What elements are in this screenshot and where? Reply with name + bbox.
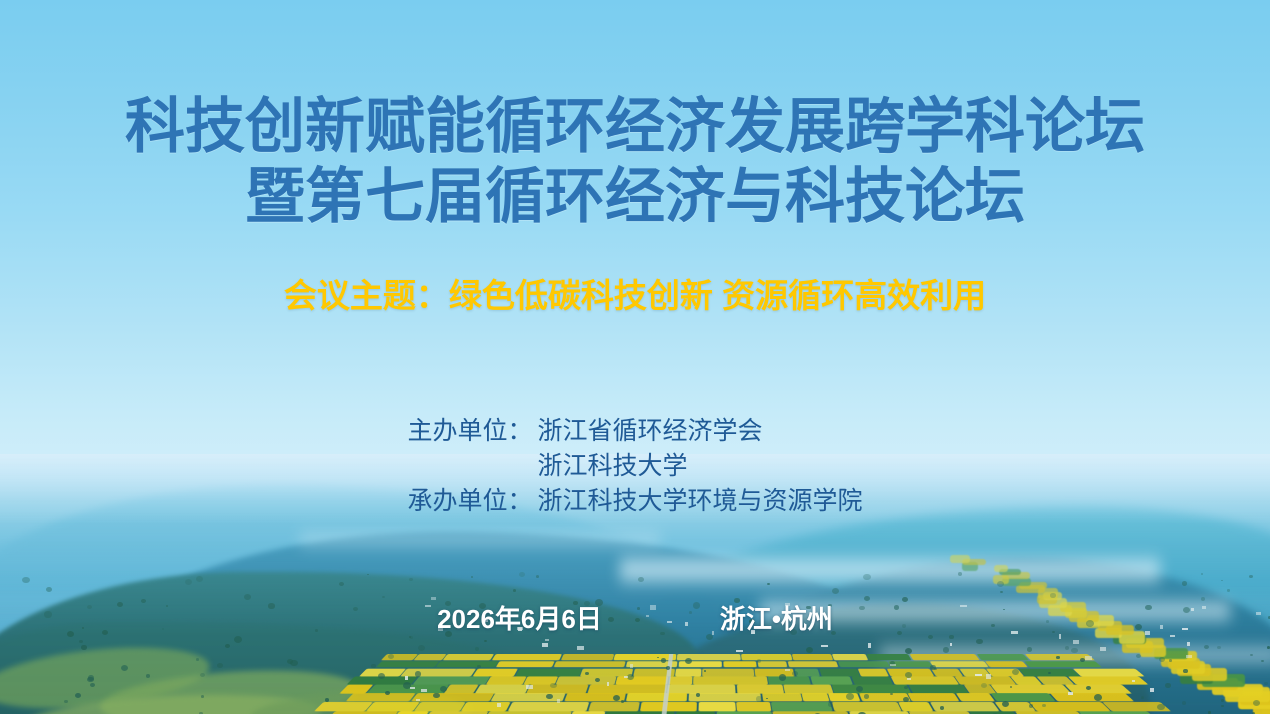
title-line-1: 科技创新赋能循环经济发展跨学科论坛 bbox=[0, 92, 1270, 162]
co-organizer-label: 承办单位： bbox=[407, 484, 537, 519]
organizers-block: 主办单位： 浙江省循环经济学会 浙江科技大学 承办单位： 浙江科技大学环境与资源… bbox=[0, 414, 1270, 519]
conference-poster: 科技创新赋能循环经济发展跨学科论坛 暨第七届循环经济与科技论坛 会议主题：绿色低… bbox=[0, 0, 1270, 714]
poster-content: 科技创新赋能循环经济发展跨学科论坛 暨第七届循环经济与科技论坛 会议主题：绿色低… bbox=[0, 0, 1270, 714]
conference-theme-subtitle: 会议主题：绿色低碳科技创新 资源循环高效利用 bbox=[0, 275, 1270, 317]
host-organizer-label: 主办单位： bbox=[407, 414, 537, 449]
event-location: 浙江•杭州 bbox=[720, 602, 833, 636]
host-organizer-value-1: 浙江省循环经济学会 bbox=[537, 414, 762, 449]
page-title: 科技创新赋能循环经济发展跨学科论坛 暨第七届循环经济与科技论坛 bbox=[0, 92, 1270, 232]
co-organizer-values: 浙江科技大学环境与资源学院 bbox=[537, 484, 862, 519]
poster-footer: 2026年6月6日 浙江•杭州 bbox=[0, 602, 1270, 636]
co-organizer-row: 承办单位： 浙江科技大学环境与资源学院 bbox=[407, 484, 862, 519]
co-organizer-value-1: 浙江科技大学环境与资源学院 bbox=[537, 484, 862, 519]
host-organizer-row: 主办单位： 浙江省循环经济学会 浙江科技大学 bbox=[407, 414, 862, 484]
title-line-2: 暨第七届循环经济与科技论坛 bbox=[0, 162, 1270, 232]
host-organizer-value-2: 浙江科技大学 bbox=[537, 449, 762, 484]
event-date: 2026年6月6日 bbox=[437, 602, 602, 636]
host-organizer-values: 浙江省循环经济学会 浙江科技大学 bbox=[537, 414, 762, 484]
